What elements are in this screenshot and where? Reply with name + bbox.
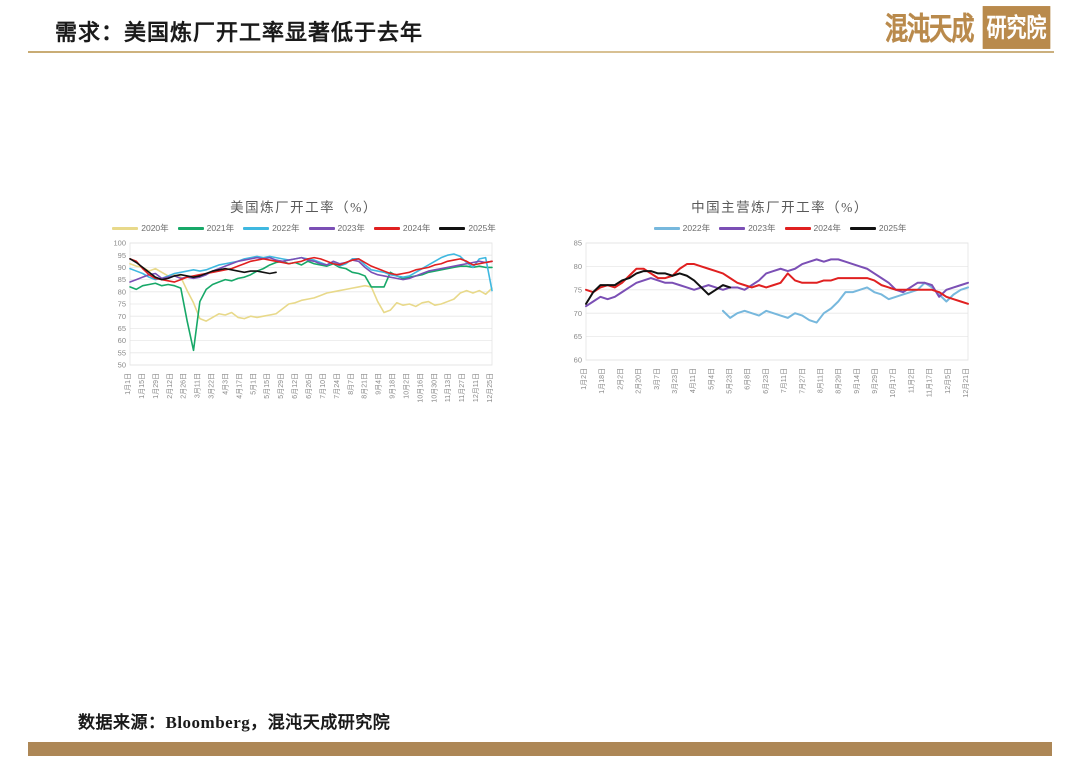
legend-label: 2025年: [879, 222, 906, 234]
x-axis-tick-label: 12月5日: [944, 368, 952, 394]
y-axis-tick-label: 60: [118, 336, 126, 345]
x-axis-tick-label: 3月22日: [208, 373, 216, 399]
x-axis-tick-label: 10月17日: [889, 368, 897, 398]
y-axis-tick-label: 90: [118, 263, 126, 272]
chart-us-refinery-utilization: 美国炼厂开工率（%） 2020年2021年2022年2023年2024年2025…: [104, 196, 504, 427]
x-axis-tick-label: 10月30日: [430, 373, 438, 403]
x-axis-tick-label: 7月24日: [333, 373, 341, 399]
x-axis-tick-label: 2月2日: [616, 368, 624, 390]
legend-item-2023年[interactable]: 2023年: [719, 222, 775, 234]
chart-china-refinery-utilization: 中国主营炼厂开工率（%） 2022年2023年2024年2025年 606570…: [560, 196, 1000, 422]
series-line-2022年: [723, 283, 968, 323]
slide-header: 需求：美国炼厂开工率显著低于去年 混沌天成 研究院: [0, 0, 1080, 52]
x-axis-tick-label: 5月15日: [263, 373, 271, 399]
x-axis-tick-label: 6月12日: [291, 373, 299, 399]
x-axis-tick-label: 12月25日: [486, 373, 494, 403]
x-axis-tick-label: 10月2日: [402, 373, 410, 399]
y-axis-tick-label: 75: [574, 285, 582, 294]
x-axis-tick-label: 12月11日: [472, 373, 480, 402]
x-axis-tick-label: 10月16日: [416, 373, 424, 403]
legend-swatch-2020年: [112, 227, 138, 230]
x-axis-tick-label: 8月21日: [361, 373, 369, 399]
chart-legend-china: 2022年2023年2024年2025年: [560, 222, 1000, 234]
y-axis-tick-label: 80: [574, 262, 582, 271]
legend-item-2021年[interactable]: 2021年: [178, 222, 234, 234]
x-axis-tick-label: 6月23日: [762, 368, 770, 394]
y-axis-tick-label: 50: [118, 361, 126, 370]
x-axis-tick-label: 12月21日: [962, 368, 970, 398]
x-axis-tick-label: 9月14日: [853, 368, 861, 394]
x-axis-tick-label: 5月1日: [249, 373, 257, 395]
y-axis-tick-label: 75: [118, 300, 126, 309]
x-axis-tick-label: 9月29日: [871, 368, 879, 394]
plot-canvas-china: 606570758085: [560, 239, 980, 364]
x-axis-tick-label: 6月26日: [305, 373, 313, 399]
legend-label: 2024年: [403, 222, 430, 234]
x-axis-tick-label: 3月23日: [671, 368, 679, 394]
x-axis-tick-label: 7月11日: [780, 368, 788, 393]
x-axis-tick-label: 11月2日: [907, 368, 915, 393]
legend-label: 2021年: [207, 222, 234, 234]
x-axis-tick-label: 8月7日: [347, 373, 355, 395]
legend-item-2024年[interactable]: 2024年: [374, 222, 430, 234]
x-axis-labels-china: 1月2日1月18日2月2日2月20日3月7日3月23日4月11日5月4日5月23…: [560, 364, 980, 422]
x-axis-tick-label: 5月23日: [726, 368, 734, 394]
legend-item-2020年[interactable]: 2020年: [112, 222, 168, 234]
legend-swatch-2022年: [654, 227, 680, 230]
x-axis-tick-label: 4月11日: [689, 368, 697, 393]
legend-label: 2020年: [141, 222, 168, 234]
header-divider: [28, 51, 1054, 53]
x-axis-tick-label: 6月8日: [744, 368, 752, 390]
legend-item-2024年[interactable]: 2024年: [785, 222, 841, 234]
y-axis-tick-label: 100: [113, 239, 126, 248]
legend-swatch-2023年: [719, 227, 745, 230]
x-axis-tick-label: 3月11日: [194, 373, 202, 398]
legend-label: 2023年: [748, 222, 775, 234]
x-axis-tick-label: 8月29日: [835, 368, 843, 394]
brand-logo: 混沌天成 研究院: [881, 11, 1052, 43]
legend-label: 2024年: [814, 222, 841, 234]
plot-border: [586, 243, 968, 360]
y-axis-tick-label: 80: [118, 287, 126, 296]
legend-swatch-2021年: [178, 227, 204, 230]
x-axis-tick-label: 1月1日: [124, 373, 132, 395]
x-axis-tick-label: 9月4日: [375, 373, 383, 395]
x-axis-tick-label: 3月7日: [653, 368, 661, 390]
x-axis-tick-label: 2月26日: [180, 373, 188, 399]
x-axis-tick-label: 1月29日: [152, 373, 160, 399]
x-axis-tick-label: 7月27日: [798, 368, 806, 394]
x-axis-tick-label: 1月2日: [580, 368, 588, 390]
legend-swatch-2025年: [850, 227, 876, 230]
x-axis-tick-label: 1月18日: [598, 368, 606, 394]
y-axis-tick-label: 95: [118, 251, 126, 260]
x-axis-tick-label: 9月18日: [389, 373, 397, 399]
x-axis-tick-label: 8月11日: [816, 368, 824, 393]
legend-swatch-2022年: [243, 227, 269, 230]
legend-item-2022年[interactable]: 2022年: [243, 222, 299, 234]
y-axis-tick-label: 85: [574, 239, 582, 248]
x-axis-tick-label: 11月13日: [444, 373, 452, 402]
y-axis-tick-label: 60: [574, 356, 582, 365]
chart-title-china: 中国主营炼厂开工率（%）: [560, 196, 1000, 216]
x-axis-tick-label: 7月10日: [319, 373, 327, 399]
x-axis-tick-label: 2月12日: [166, 373, 174, 399]
x-axis-tick-label: 5月29日: [277, 373, 285, 399]
x-axis-tick-label: 11月27日: [458, 373, 466, 402]
legend-label: 2022年: [272, 222, 299, 234]
legend-swatch-2024年: [374, 227, 400, 230]
legend-label: 2023年: [338, 222, 365, 234]
y-axis-tick-label: 70: [574, 309, 582, 318]
legend-item-2025年[interactable]: 2025年: [850, 222, 906, 234]
x-axis-tick-label: 1月15日: [138, 373, 146, 399]
y-axis-tick-label: 55: [118, 348, 126, 357]
legend-item-2022年[interactable]: 2022年: [654, 222, 710, 234]
y-axis-tick-label: 85: [118, 275, 126, 284]
x-axis-tick-label: 4月3日: [221, 373, 229, 395]
page-title: 需求：美国炼厂开工率显著低于去年: [55, 15, 423, 47]
brand-logo-badge-text: 研究院: [983, 6, 1050, 49]
legend-item-2023年[interactable]: 2023年: [309, 222, 365, 234]
source-note: 数据来源：Bloomberg，混沌天成研究院: [78, 708, 390, 733]
y-axis-tick-label: 65: [574, 332, 582, 341]
legend-swatch-2023年: [309, 227, 335, 230]
legend-label: 2022年: [683, 222, 710, 234]
x-axis-tick-label: 5月4日: [707, 368, 715, 390]
legend-item-2025年[interactable]: 2025年: [439, 222, 495, 234]
footer-accent-bar: [28, 742, 1052, 756]
legend-label: 2025年: [468, 222, 495, 234]
legend-swatch-2024年: [785, 227, 811, 230]
y-axis-tick-label: 70: [118, 312, 126, 321]
plot-canvas-us: 50556065707580859095100: [104, 239, 504, 369]
brand-logo-primary-text: 混沌天成: [885, 5, 973, 50]
chart-title-us: 美国炼厂开工率（%）: [104, 196, 504, 216]
x-axis-tick-label: 4月17日: [235, 373, 243, 399]
legend-swatch-2025年: [439, 227, 465, 230]
x-axis-tick-label: 11月17日: [926, 368, 934, 397]
x-axis-labels-us: 1月1日1月15日1月29日2月12日2月26日3月11日3月22日4月3日4月…: [104, 369, 504, 427]
y-axis-tick-label: 65: [118, 324, 126, 333]
chart-area: 美国炼厂开工率（%） 2020年2021年2022年2023年2024年2025…: [0, 196, 1080, 456]
chart-legend-us: 2020年2021年2022年2023年2024年2025年: [104, 222, 504, 234]
x-axis-tick-label: 2月20日: [635, 368, 643, 394]
